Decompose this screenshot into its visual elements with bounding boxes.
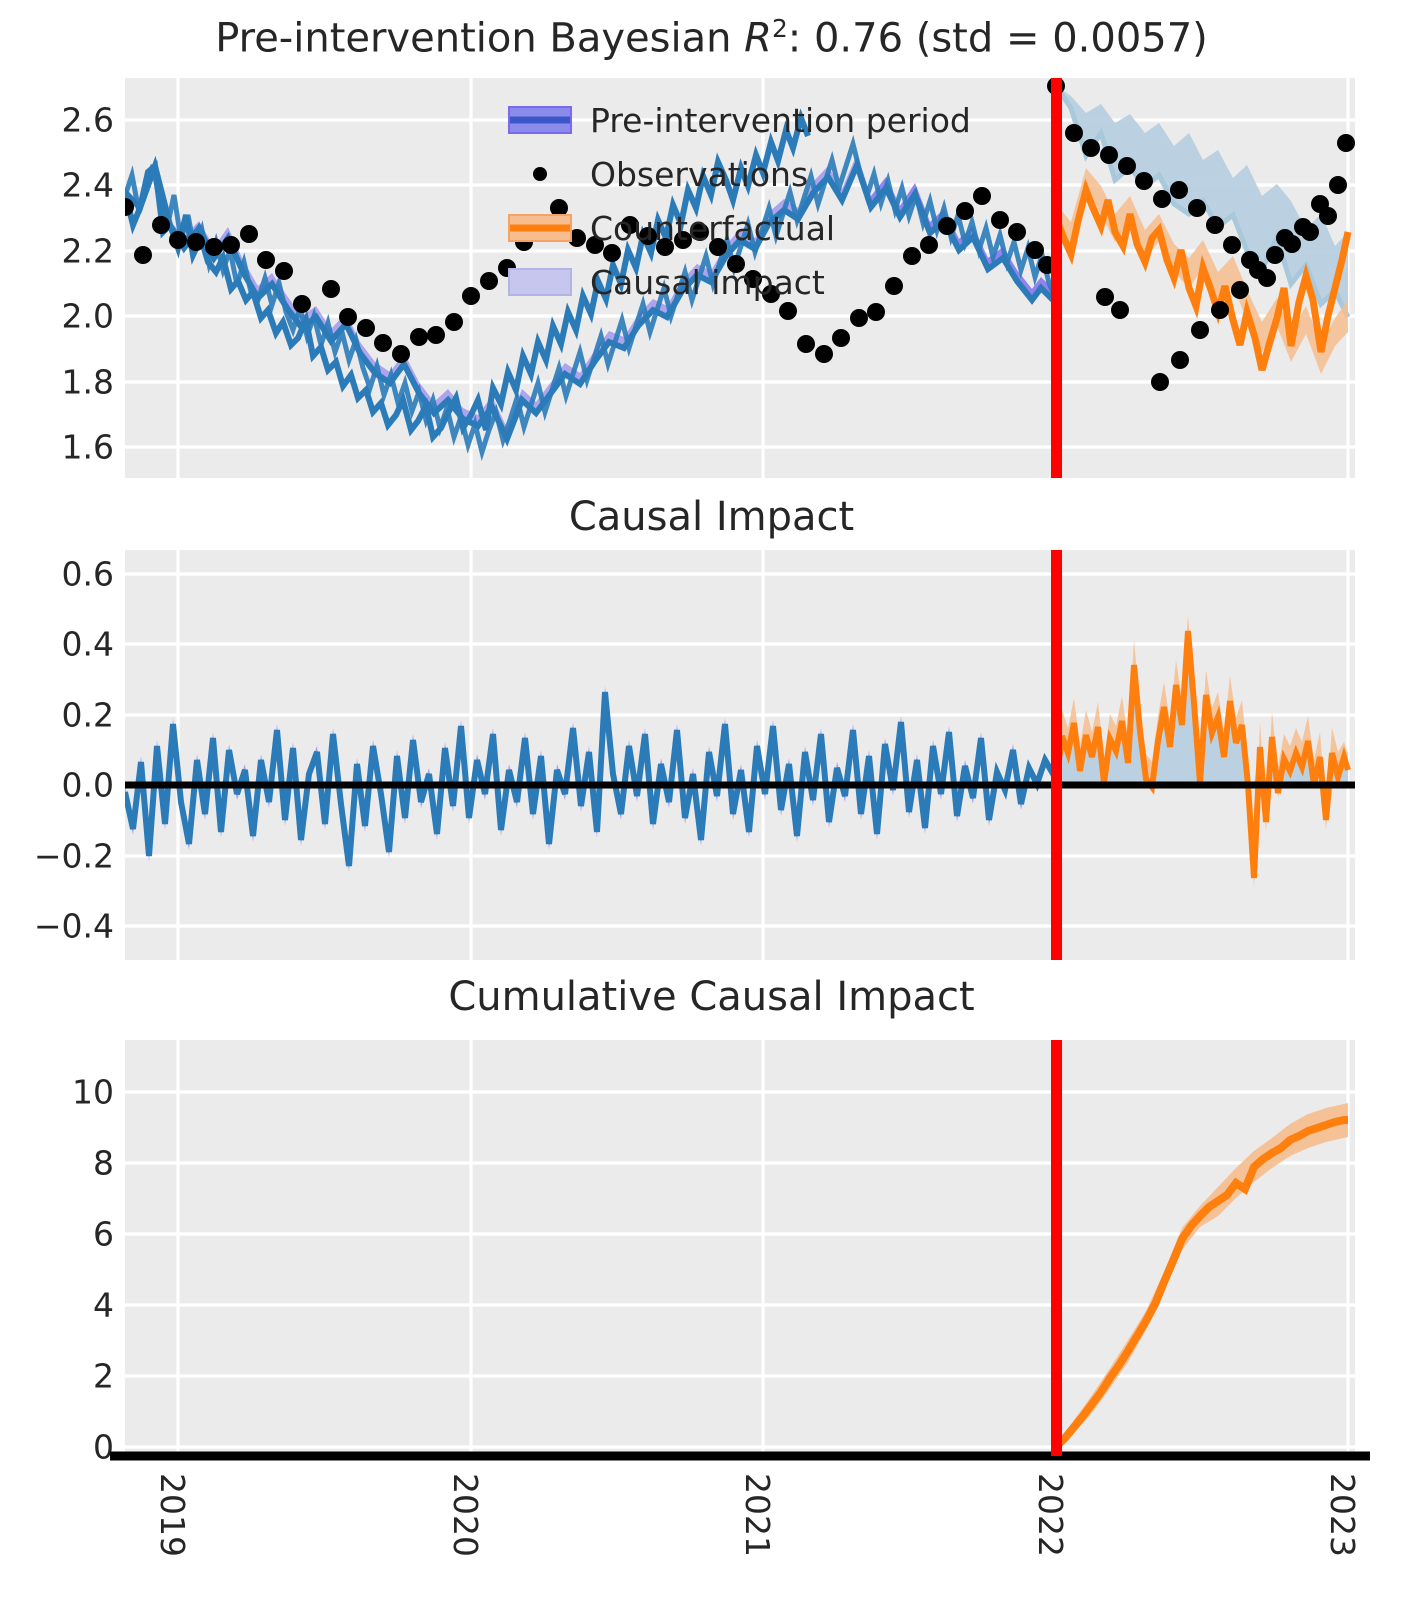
panel-impact: Causal Impact 0.6 0.4 0.2 0.0 −0.2 −0.4 bbox=[0, 490, 1423, 970]
legend-swatch-impact bbox=[508, 268, 572, 296]
xtick-2020: 2020 bbox=[446, 1473, 485, 1557]
intervention-line-cumulative bbox=[1051, 1040, 1062, 1456]
legend-item-impact: Causal impact bbox=[508, 260, 971, 304]
impact-pre-line bbox=[125, 692, 1056, 866]
legend-label-counterfactual: Counterfactual bbox=[590, 209, 835, 248]
impact-post-line bbox=[1056, 631, 1348, 878]
legend-item-pre: Pre-intervention period bbox=[508, 98, 971, 142]
xtick-2023: 2023 bbox=[1323, 1473, 1362, 1557]
legend-swatch-observations bbox=[508, 160, 572, 188]
legend-swatch-pre bbox=[508, 106, 572, 134]
xtick-2022: 2022 bbox=[1031, 1473, 1070, 1557]
legend-item-observations: Observations bbox=[508, 152, 971, 196]
intervention-line-observed bbox=[1051, 78, 1062, 478]
panel-cumulative-svg bbox=[0, 970, 1423, 1530]
panel-observed: Pre-intervention Bayesian R2: 0.76 (std … bbox=[0, 0, 1423, 490]
legend-label-pre: Pre-intervention period bbox=[590, 101, 971, 140]
xtick-2019: 2019 bbox=[153, 1473, 192, 1557]
panel-cumulative: Cumulative Causal Impact 10 8 6 4 2 0 bbox=[0, 970, 1423, 1623]
legend: Pre-intervention period Observations Cou… bbox=[508, 98, 971, 314]
panel-impact-svg bbox=[0, 490, 1423, 970]
figure-root: Pre-intervention Bayesian R2: 0.76 (std … bbox=[0, 0, 1423, 1623]
legend-swatch-counterfactual bbox=[508, 214, 572, 242]
intervention-line-impact bbox=[1051, 550, 1062, 960]
xtick-2021: 2021 bbox=[738, 1473, 777, 1557]
legend-label-observations: Observations bbox=[590, 155, 808, 194]
cumulative-line bbox=[1056, 1120, 1348, 1447]
legend-item-counterfactual: Counterfactual bbox=[508, 206, 971, 250]
legend-label-impact: Causal impact bbox=[590, 263, 825, 302]
counterfactual-line bbox=[1056, 190, 1348, 370]
